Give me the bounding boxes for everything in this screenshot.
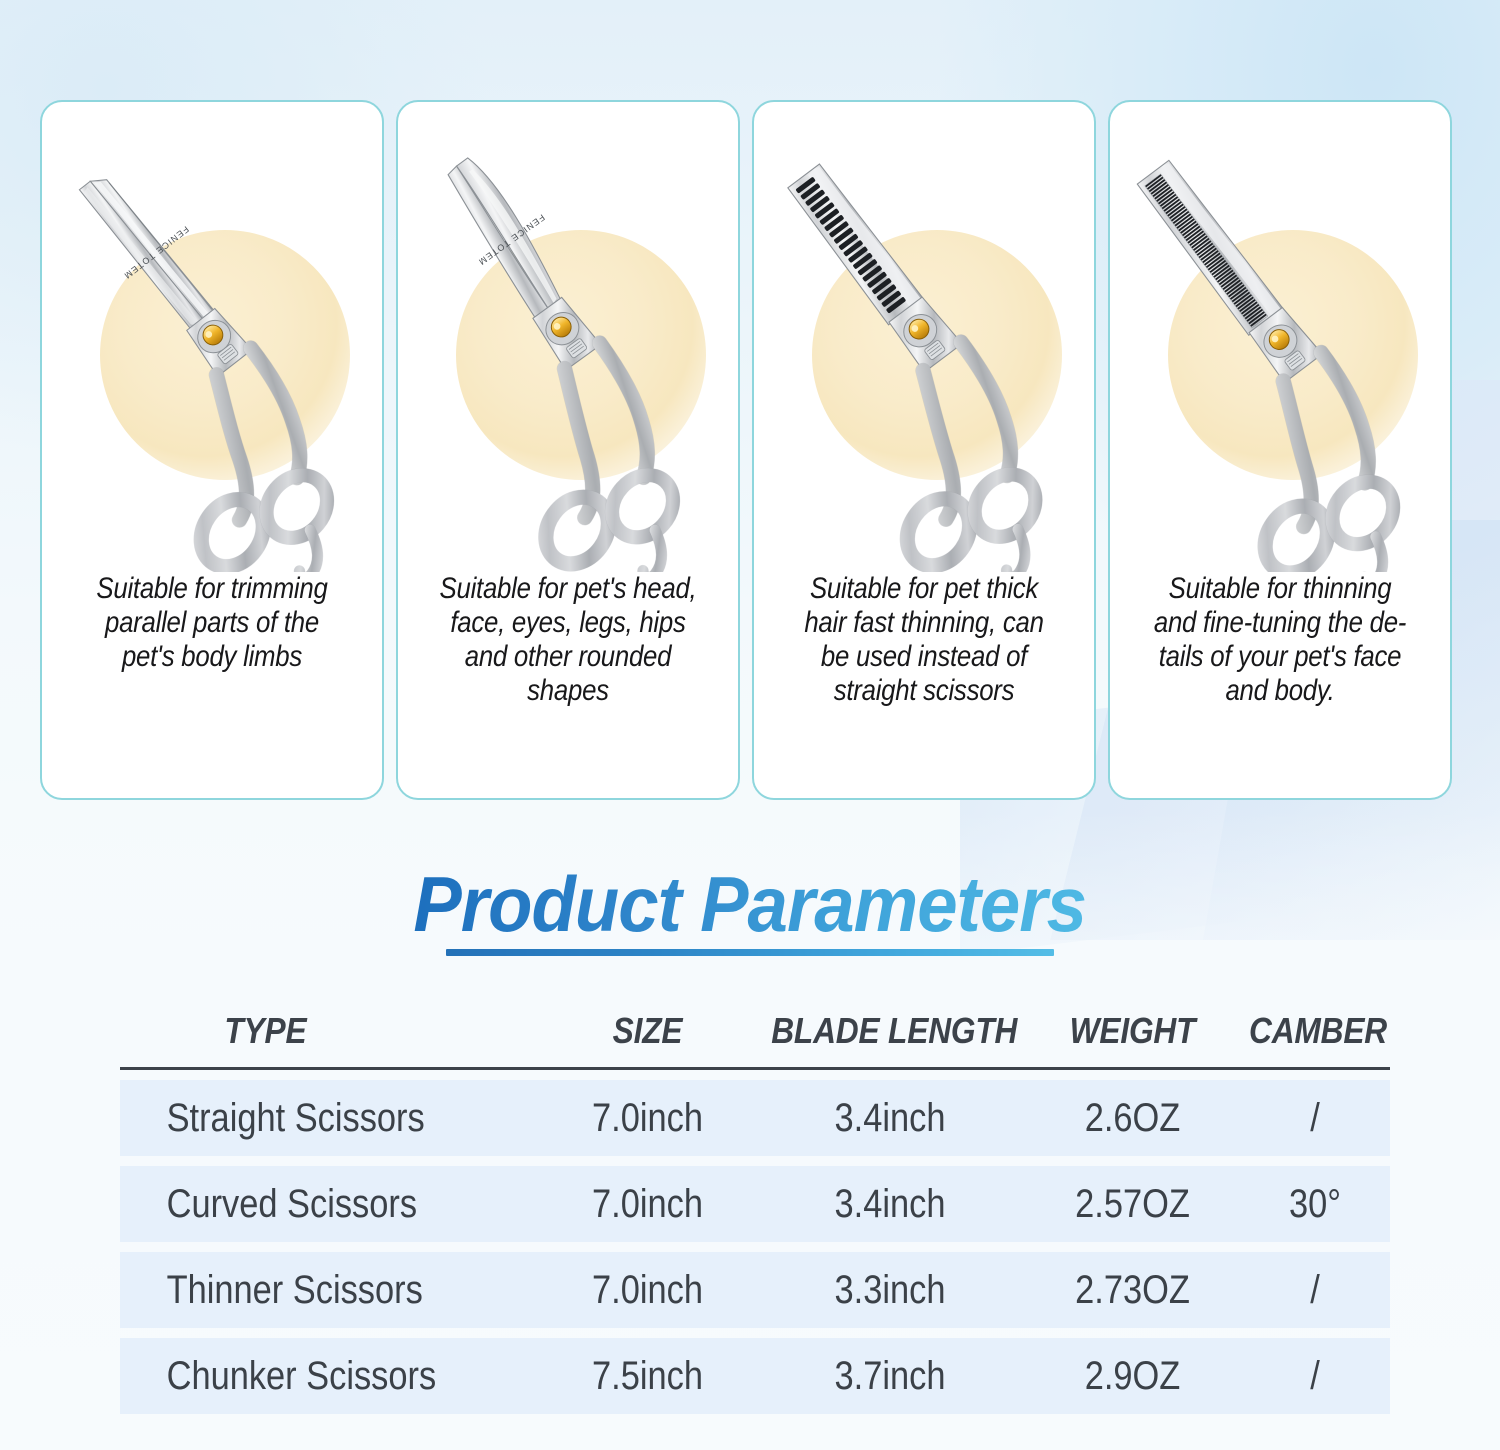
cell-type: Chunker Scissors: [149, 1354, 510, 1399]
cell-type: Straight Scissors: [149, 1096, 510, 1141]
column-header-weight: WEIGHT: [1038, 1010, 1227, 1052]
curved-scissors-image: FENICE TOTEM: [398, 102, 738, 572]
straight-scissors-icon: FENICE TOTEM: [42, 102, 382, 572]
chunker-scissors-image: [754, 102, 1094, 572]
product-parameters-table: TYPE SIZE BLADE LENGTH WEIGHT CAMBER Str…: [120, 995, 1390, 1424]
table-body: Straight Scissors 7.0inch 3.4inch 2.6OZ …: [120, 1080, 1390, 1414]
feature-card-chunker-scissors: Suitable for pet thick hair fast thinnin…: [752, 100, 1096, 800]
cell-camber: 30°: [1251, 1182, 1380, 1227]
straight-scissors-image: FENICE TOTEM: [42, 102, 382, 572]
cell-size: 7.0inch: [555, 1096, 740, 1141]
page-title: Product Parameters: [414, 865, 1087, 943]
table-row: Straight Scissors 7.0inch 3.4inch 2.6OZ …: [120, 1080, 1390, 1156]
feature-caption: Suitable for pet's head, face, eyes, leg…: [422, 572, 714, 798]
cell-size: 7.5inch: [555, 1354, 740, 1399]
cell-size: 7.0inch: [555, 1268, 740, 1313]
cell-size: 7.0inch: [555, 1182, 740, 1227]
section-heading-block: Product Parameters: [0, 865, 1500, 956]
cell-camber: /: [1251, 1268, 1380, 1313]
feature-card-row: FENICE TOTEM Suitable for trimming paral…: [40, 100, 1460, 810]
cell-camber: /: [1251, 1354, 1380, 1399]
cell-camber: /: [1251, 1096, 1380, 1141]
table-header-row: TYPE SIZE BLADE LENGTH WEIGHT CAMBER: [120, 995, 1390, 1067]
cell-weight: 2.73OZ: [1040, 1268, 1225, 1313]
thinning-scissors-icon: [1110, 102, 1450, 572]
feature-card-curved-scissors: FENICE TOTEM Suitable for pet's head, fa…: [396, 100, 740, 800]
chunker-scissors-icon: [754, 102, 1094, 572]
table-row: Chunker Scissors 7.5inch 3.7inch 2.9OZ /: [120, 1338, 1390, 1414]
feature-caption: Suitable for thinning and fine-tuning th…: [1134, 572, 1426, 798]
cell-blade-length: 3.3inch: [774, 1268, 1006, 1313]
column-header-blade-length: BLADE LENGTH: [771, 1010, 1009, 1052]
column-header-camber: CAMBER: [1249, 1010, 1381, 1052]
cell-weight: 2.57OZ: [1040, 1182, 1225, 1227]
thinning-scissors-image: [1110, 102, 1450, 572]
feature-caption: Suitable for pet thick hair fast thinnin…: [778, 572, 1070, 798]
cell-blade-length: 3.4inch: [774, 1182, 1006, 1227]
cell-blade-length: 3.7inch: [774, 1354, 1006, 1399]
table-row: Thinner Scissors 7.0inch 3.3inch 2.73OZ …: [120, 1252, 1390, 1328]
column-header-size: SIZE: [553, 1010, 742, 1052]
table-row: Curved Scissors 7.0inch 3.4inch 2.57OZ 3…: [120, 1166, 1390, 1242]
title-underline: [446, 949, 1054, 956]
table-header-rule: [120, 1067, 1390, 1070]
cell-type: Thinner Scissors: [149, 1268, 510, 1313]
cell-weight: 2.9OZ: [1040, 1354, 1225, 1399]
column-header-type: TYPE: [145, 1010, 515, 1052]
cell-blade-length: 3.4inch: [774, 1096, 1006, 1141]
feature-caption: Suitable for trimming parallel parts of …: [66, 572, 358, 798]
cell-type: Curved Scissors: [149, 1182, 510, 1227]
feature-card-straight-scissors: FENICE TOTEM Suitable for trimming paral…: [40, 100, 384, 800]
cell-weight: 2.6OZ: [1040, 1096, 1225, 1141]
feature-card-thinning-scissors: Suitable for thinning and fine-tuning th…: [1108, 100, 1452, 800]
curved-scissors-icon: FENICE TOTEM: [398, 102, 738, 572]
